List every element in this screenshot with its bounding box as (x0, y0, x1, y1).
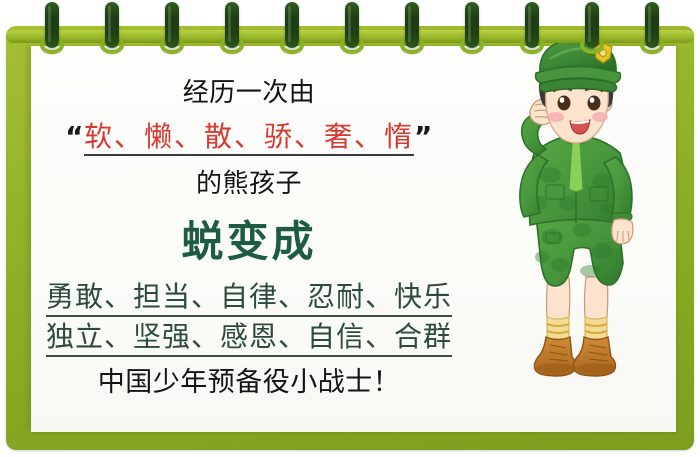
spiral-post (525, 2, 539, 48)
poster-line-2-negative-traits: 软、懒、散、骄、奢、惰 (84, 120, 414, 156)
poster-line-3: 的熊孩子 (39, 163, 459, 200)
socks (547, 317, 607, 341)
military-cap (536, 39, 621, 92)
quote-close: ” (414, 120, 433, 153)
spiral-post (645, 2, 659, 48)
quote-open: “ (65, 120, 84, 153)
poster-line-6: 独立、坚强、感恩、自信、合群 (39, 315, 459, 355)
poster-line-5-text: 勇敢、担当、自律、忍耐、快乐 (46, 280, 452, 317)
spiral-post (285, 2, 299, 48)
spiral-post (345, 2, 359, 48)
poster-line-5: 勇敢、担当、自律、忍耐、快乐 (39, 275, 459, 315)
spiral-post (165, 2, 179, 48)
spiral-post (405, 2, 419, 48)
poster-line-1: 经历一次由 (39, 72, 459, 109)
spiral-post (585, 2, 599, 48)
poster-line-4-transform: 蜕变成 (39, 208, 459, 269)
spiral-post (105, 2, 119, 48)
spiral-post (225, 2, 239, 48)
poster-line-2: “软、懒、散、骄、奢、惰” (39, 115, 459, 155)
poster-line-6-text: 独立、坚强、感恩、自信、合群 (46, 320, 452, 357)
saluting-boy-soldier-illustration (490, 25, 670, 405)
spiral-post (465, 2, 479, 48)
boots (534, 337, 616, 376)
poster-line-7: 中国少年预备役小战士！ (39, 360, 459, 399)
spiral-post (45, 2, 59, 48)
